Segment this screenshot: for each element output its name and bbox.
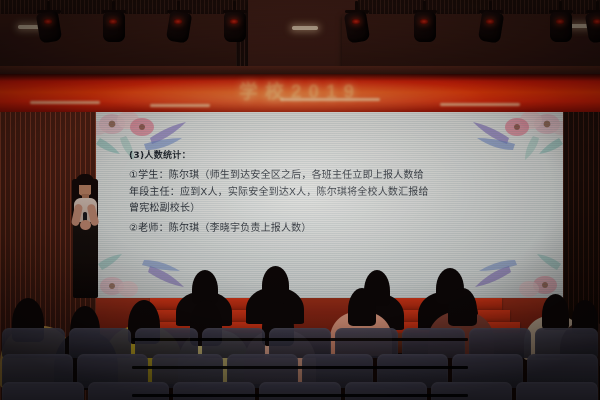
slide-line-2: 年段主任：应到X人，实际安全到达X人，陈尔琪将全校人数汇报给 [129,185,547,202]
slide-heading: (3)人数统计： [129,148,547,161]
audience-head [542,294,569,330]
spotlight-lens [486,19,494,24]
spotlight-body [36,10,62,43]
spotlight-lens [556,19,564,24]
banner-highlight [440,103,520,106]
theater-seat[interactable] [516,382,598,400]
spotlight-body [585,10,600,43]
spotlight-body [550,12,572,42]
stage-spotlight [222,4,248,46]
audience-head [192,270,218,304]
seat-row-front[interactable] [0,382,600,400]
spotlight-lens [174,19,182,24]
spotlight-lens [593,19,600,24]
stage-spotlight [585,4,600,46]
audience-head [348,288,376,326]
stage-spotlight [166,4,192,46]
spotlight-lens [420,19,428,24]
theater-seat[interactable] [431,382,513,400]
spotlight-body [478,10,504,43]
theater-seat[interactable] [2,382,84,400]
auditorium-scene: 学校2019 [0,0,600,400]
banner-glow [0,74,600,112]
strip-light [292,26,318,30]
theater-seat[interactable] [173,382,255,400]
slide-line-4: ②老师：陈尔琪（李晓宇负责上报人数） [129,221,547,238]
auditorium-ceiling [0,0,600,74]
spotlight-body [166,10,192,43]
spotlight-body [344,10,370,43]
stage-spotlight [548,4,574,46]
stage-spotlight [101,4,127,46]
stage-spotlight [36,4,62,46]
spotlight-lens [44,19,52,24]
spotlight-lens [109,19,117,24]
spotlight-body [103,12,125,42]
audience-head [262,266,289,300]
stage-spotlight [412,4,438,46]
led-banner: 学校2019 [0,74,600,112]
presenter-hands [80,220,91,230]
slide-line-3: 曾宪松副校长） [129,201,547,218]
banner-highlight [150,104,210,107]
spotlight-body [414,12,436,42]
spotlight-body [224,12,246,42]
banner-highlight [30,101,100,104]
banner-highlight [280,98,380,101]
theater-seat[interactable] [345,382,427,400]
slide-content: (3)人数统计： ①学生：陈尔琪（师生到达安全区之后，各班主任立即上报人数给 年… [129,148,547,237]
stage-spotlight [478,4,504,46]
theater-seat[interactable] [88,382,170,400]
slide-line-1: ①学生：陈尔琪（师生到达安全区之后，各班主任立即上报人数给 [129,168,547,185]
seated-audience [0,268,600,400]
theater-seat[interactable] [259,382,341,400]
spotlight-lens [352,19,360,24]
stage-spotlight [344,4,370,46]
audience-head [448,288,477,326]
spotlight-lens [230,19,238,24]
